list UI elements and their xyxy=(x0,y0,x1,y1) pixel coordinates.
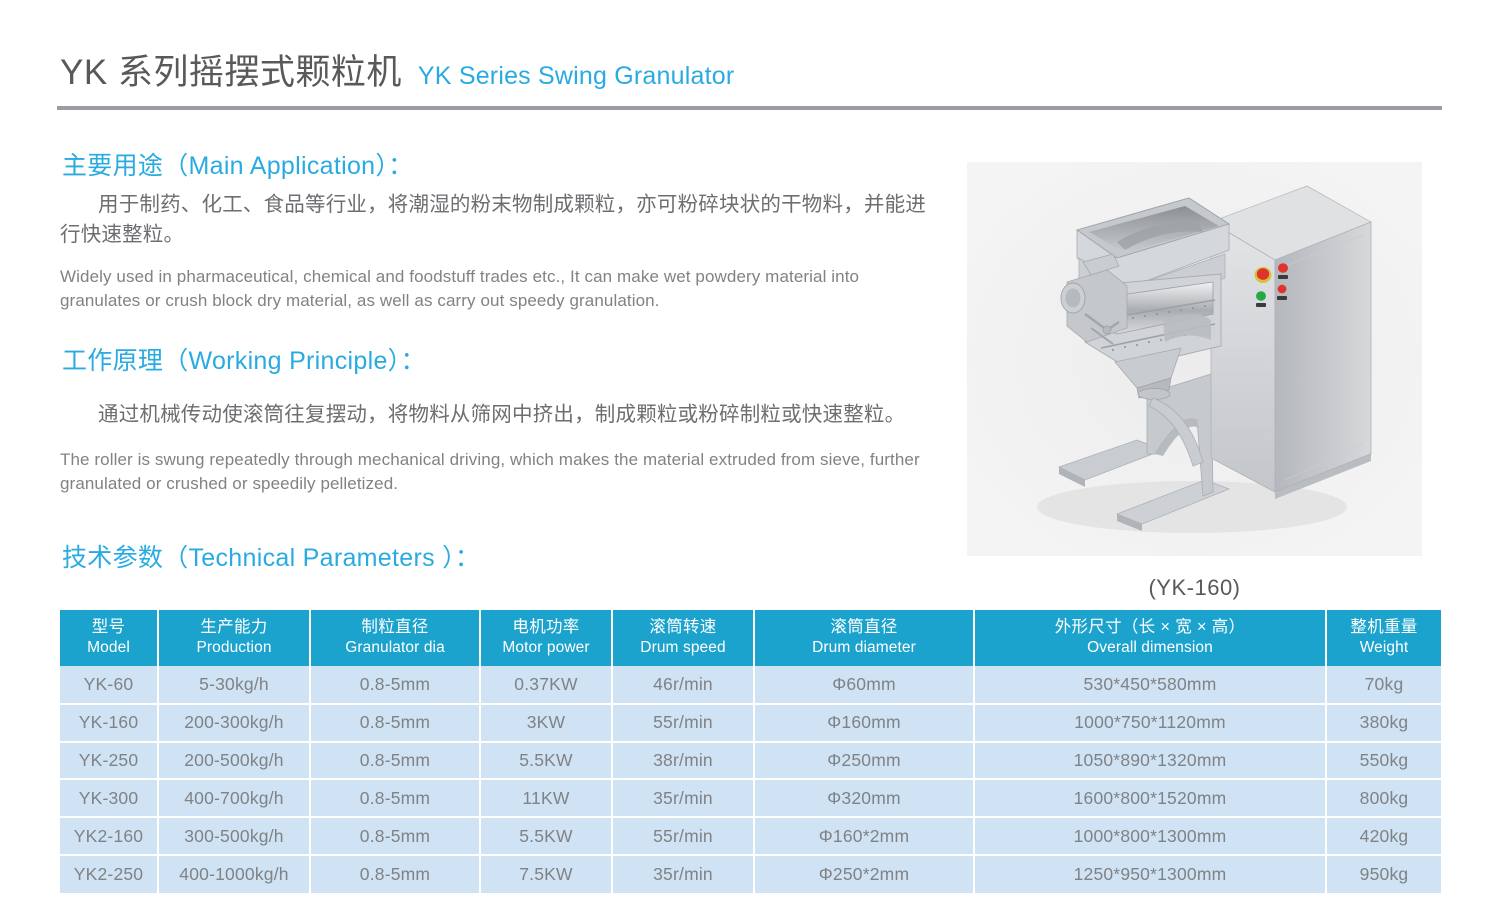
column-header-drum-diameter-cn: 滚筒直径 xyxy=(757,617,971,638)
cell-overall-dimension: 530*450*580mm xyxy=(974,666,1326,704)
cell-production: 5-30kg/h xyxy=(158,666,310,704)
cell-model: YK-60 xyxy=(60,666,158,704)
working-principle-text-en: The roller is swung repeatedly through m… xyxy=(60,448,925,496)
column-header-production-en: Production xyxy=(161,638,307,658)
cell-drum-diameter: Φ250mm xyxy=(754,742,974,780)
table-row: YK-300400-700kg/h0.8-5mm11KW35r/minΦ320m… xyxy=(60,779,1441,817)
main-application-text-cn: 用于制药、化工、食品等行业，将潮湿的粉末物制成颗粒，亦可粉碎块状的干物料，并能进… xyxy=(60,190,930,250)
cell-granulator-dia: 0.8-5mm xyxy=(310,855,480,893)
cell-motor-power: 3KW xyxy=(480,704,612,742)
swing-granulator-illustration xyxy=(967,162,1422,556)
cell-motor-power: 5.5KW xyxy=(480,742,612,780)
cell-drum-diameter: Φ160*2mm xyxy=(754,817,974,855)
column-header-model-cn: 型号 xyxy=(62,617,155,638)
cell-drum-diameter: Φ320mm xyxy=(754,779,974,817)
table-row: YK-160200-300kg/h0.8-5mm3KW55r/minΦ160mm… xyxy=(60,704,1441,742)
product-image xyxy=(967,162,1422,556)
cell-granulator-dia: 0.8-5mm xyxy=(310,779,480,817)
cell-drum-diameter: Φ250*2mm xyxy=(754,855,974,893)
cell-model: YK-300 xyxy=(60,779,158,817)
cell-motor-power: 5.5KW xyxy=(480,817,612,855)
cell-drum-diameter: Φ60mm xyxy=(754,666,974,704)
cell-weight: 800kg xyxy=(1326,779,1441,817)
cell-granulator-dia: 0.8-5mm xyxy=(310,817,480,855)
table-row: YK2-160300-500kg/h0.8-5mm5.5KW55r/minΦ16… xyxy=(60,817,1441,855)
page-title-cn: YK 系列摇摆式颗粒机 xyxy=(60,44,402,95)
column-header-weight-cn: 整机重量 xyxy=(1329,617,1439,638)
datasheet-page: YK 系列摇摆式颗粒机 YK Series Swing Granulator 主… xyxy=(0,0,1500,908)
cell-production: 200-300kg/h xyxy=(158,704,310,742)
cell-drum-diameter: Φ160mm xyxy=(754,704,974,742)
column-header-granulator-dia-cn: 制粒直径 xyxy=(313,617,477,638)
column-header-overall-dimension: 外形尺寸（长 × 宽 × 高） Overall dimension xyxy=(974,610,1326,666)
section-heading-working-principle: 工作原理（Working Principle）： xyxy=(62,341,426,377)
table-body: YK-605-30kg/h0.8-5mm0.37KW46r/minΦ60mm53… xyxy=(60,666,1441,893)
main-application-text-en: Widely used in pharmaceutical, chemical … xyxy=(60,265,930,313)
column-header-motor-power-cn: 电机功率 xyxy=(483,617,609,638)
table-row: YK-605-30kg/h0.8-5mm0.37KW46r/minΦ60mm53… xyxy=(60,666,1441,704)
cell-model: YK-250 xyxy=(60,742,158,780)
cell-production: 400-1000kg/h xyxy=(158,855,310,893)
cell-drum-speed: 35r/min xyxy=(612,779,754,817)
cell-production: 400-700kg/h xyxy=(158,779,310,817)
product-image-caption: (YK-160) xyxy=(967,575,1422,601)
cell-production: 200-500kg/h xyxy=(158,742,310,780)
column-header-motor-power-en: Motor power xyxy=(483,638,609,658)
cell-model: YK-160 xyxy=(60,704,158,742)
cell-model: YK2-250 xyxy=(60,855,158,893)
page-title-en: YK Series Swing Granulator xyxy=(418,62,734,91)
column-header-drum-speed-en: Drum speed xyxy=(615,638,751,658)
column-header-weight-en: Weight xyxy=(1329,638,1439,658)
cell-drum-speed: 38r/min xyxy=(612,742,754,780)
cell-overall-dimension: 1000*800*1300mm xyxy=(974,817,1326,855)
cell-weight: 420kg xyxy=(1326,817,1441,855)
cell-weight: 380kg xyxy=(1326,704,1441,742)
table-header-row: 型号 Model 生产能力 Production 制粒直径 Granulator… xyxy=(60,610,1441,666)
cell-drum-speed: 55r/min xyxy=(612,704,754,742)
cell-motor-power: 7.5KW xyxy=(480,855,612,893)
column-header-drum-speed: 滚筒转速 Drum speed xyxy=(612,610,754,666)
cell-drum-speed: 46r/min xyxy=(612,666,754,704)
column-header-overall-dimension-cn: 外形尺寸（长 × 宽 × 高） xyxy=(977,617,1323,638)
table-row: YK-250200-500kg/h0.8-5mm5.5KW38r/minΦ250… xyxy=(60,742,1441,780)
column-header-overall-dimension-en: Overall dimension xyxy=(977,638,1323,658)
cell-overall-dimension: 1000*750*1120mm xyxy=(974,704,1326,742)
cell-overall-dimension: 1050*890*1320mm xyxy=(974,742,1326,780)
cell-model: YK2-160 xyxy=(60,817,158,855)
section-heading-main-application: 主要用途（Main Application）： xyxy=(62,146,413,182)
column-header-drum-speed-cn: 滚筒转速 xyxy=(615,617,751,638)
cell-weight: 950kg xyxy=(1326,855,1441,893)
column-header-weight: 整机重量 Weight xyxy=(1326,610,1441,666)
column-header-motor-power: 电机功率 Motor power xyxy=(480,610,612,666)
column-header-granulator-dia: 制粒直径 Granulator dia xyxy=(310,610,480,666)
page-title: YK 系列摇摆式颗粒机 YK Series Swing Granulator xyxy=(60,44,734,95)
cell-motor-power: 0.37KW xyxy=(480,666,612,704)
technical-parameters-table: 型号 Model 生产能力 Production 制粒直径 Granulator… xyxy=(60,610,1441,893)
cell-drum-speed: 55r/min xyxy=(612,817,754,855)
cell-overall-dimension: 1600*800*1520mm xyxy=(974,779,1326,817)
column-header-drum-diameter-en: Drum diameter xyxy=(757,638,971,658)
cell-motor-power: 11KW xyxy=(480,779,612,817)
cell-drum-speed: 35r/min xyxy=(612,855,754,893)
table-row: YK2-250400-1000kg/h0.8-5mm7.5KW35r/minΦ2… xyxy=(60,855,1441,893)
column-header-production-cn: 生产能力 xyxy=(161,617,307,638)
cell-overall-dimension: 1250*950*1300mm xyxy=(974,855,1326,893)
cell-weight: 550kg xyxy=(1326,742,1441,780)
working-principle-text-cn: 通过机械传动使滚筒往复摆动，将物料从筛网中挤出，制成颗粒或粉碎制粒或快速整粒。 xyxy=(60,400,930,430)
section-heading-technical-parameters: 技术参数（Technical Parameters ）： xyxy=(62,538,480,574)
title-divider xyxy=(57,106,1442,110)
column-header-drum-diameter: 滚筒直径 Drum diameter xyxy=(754,610,974,666)
cell-production: 300-500kg/h xyxy=(158,817,310,855)
cell-granulator-dia: 0.8-5mm xyxy=(310,704,480,742)
column-header-model-en: Model xyxy=(62,638,155,658)
cell-granulator-dia: 0.8-5mm xyxy=(310,742,480,780)
column-header-production: 生产能力 Production xyxy=(158,610,310,666)
column-header-granulator-dia-en: Granulator dia xyxy=(313,638,477,658)
cell-granulator-dia: 0.8-5mm xyxy=(310,666,480,704)
cell-weight: 70kg xyxy=(1326,666,1441,704)
column-header-model: 型号 Model xyxy=(60,610,158,666)
